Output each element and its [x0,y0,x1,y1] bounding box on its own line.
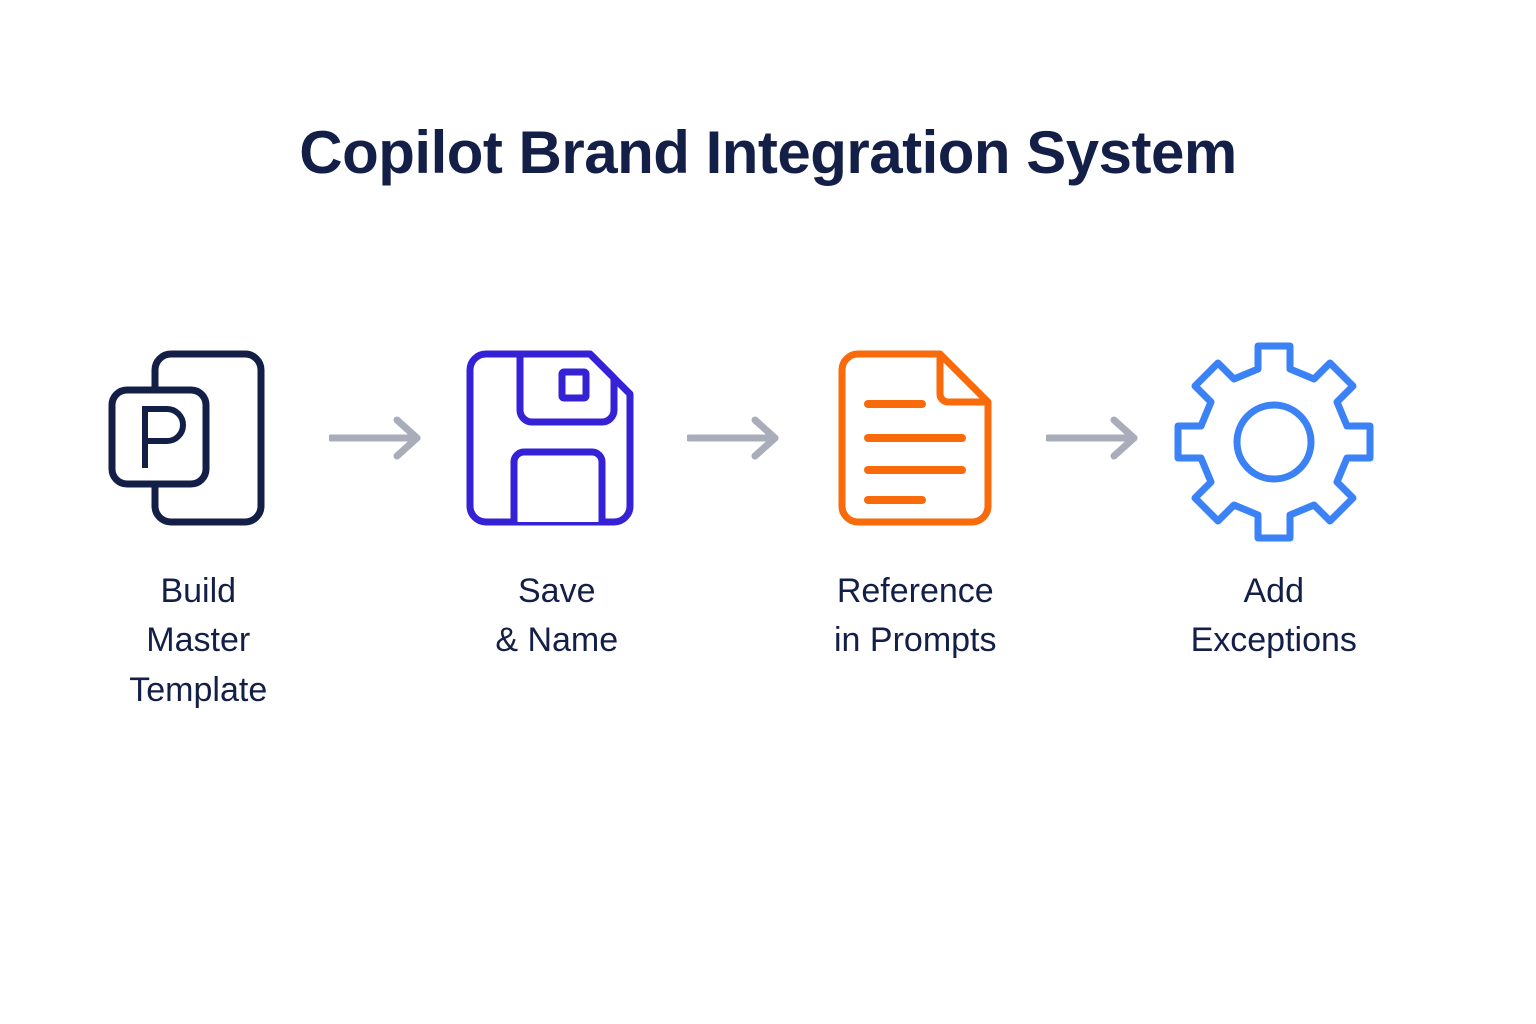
flow-step-add-exceptions[interactable]: Add Exceptions [1154,330,1395,666]
gear-icon [1159,330,1389,545]
diagram-canvas: Copilot Brand Integration System Build M… [0,0,1536,1024]
flow-step-label: Reference in Prompts [834,567,997,666]
arrow-right-icon [319,330,437,545]
page-title: Copilot Brand Integration System [0,118,1536,187]
flow-step-label: Build Master Template [78,567,319,715]
process-flow: Build Master Template [78,330,1394,715]
presentation-template-icon [83,330,313,545]
flow-step-save-and-name[interactable]: Save & Name [437,330,678,666]
flow-step-build-master-template[interactable]: Build Master Template [78,330,319,715]
document-lines-icon [800,330,1030,545]
flow-step-label: Save & Name [495,567,618,666]
flow-step-reference-in-prompts[interactable]: Reference in Prompts [795,330,1036,666]
arrow-right-icon [677,330,795,545]
flow-step-label: Add Exceptions [1191,567,1357,666]
arrow-right-icon [1036,330,1154,545]
floppy-disk-save-icon [442,330,672,545]
